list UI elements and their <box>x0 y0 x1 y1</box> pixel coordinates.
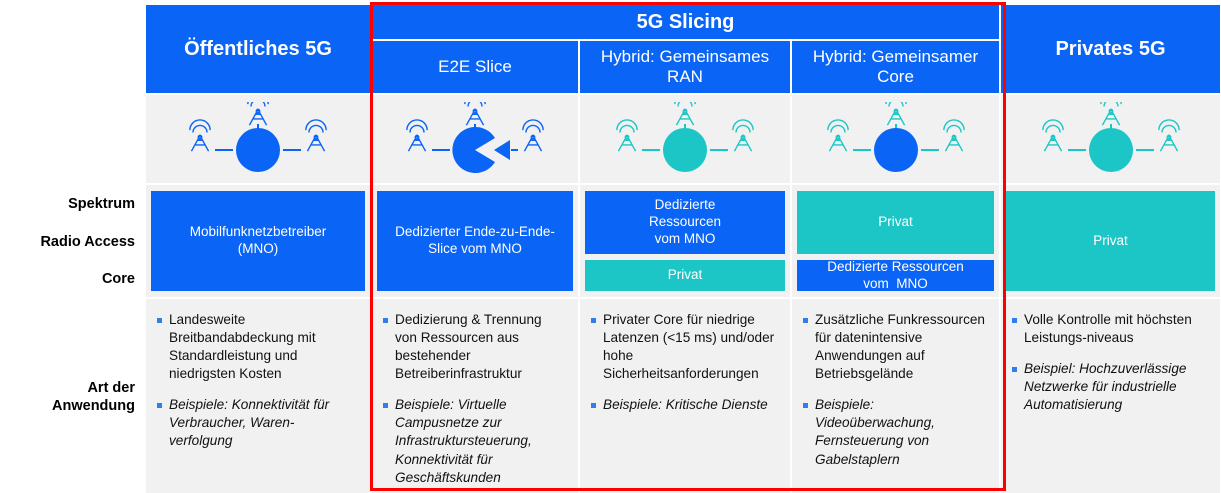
bullet-square-icon <box>157 403 162 408</box>
band-cell-shared-core: Privat Dedizierte Ressourcenvom MNO <box>791 184 1000 298</box>
usage-cell-e2e: Dedizierung & Trennung von Ressourcen au… <box>371 298 579 493</box>
network-node-blue-pie-slice-icon <box>386 102 564 176</box>
list-item: Beispiele: Konnektivität für Verbraucher… <box>157 396 357 450</box>
comparison-grid: Öffentliches 5G 5G Slicing Privates 5G E… <box>145 4 1221 493</box>
bullet-square-icon <box>591 403 596 408</box>
row-label-column: Spektrum Radio Access Core Art der Anwen… <box>0 4 145 493</box>
band-ran-private-core[interactable]: Privat <box>585 260 785 291</box>
usage-list-public: Landesweite Breitbandabdeckung mit Stand… <box>151 299 365 470</box>
usage-text: Beispiel: Hochzuverlässige Netzwerke für… <box>1024 360 1207 414</box>
bullet-square-icon <box>591 318 596 323</box>
rowlabel-spacer-icons <box>0 94 145 184</box>
network-node-teal-circle-icon <box>596 102 774 176</box>
rowlabel-art-der-anwendung: Art der Anwendung <box>0 298 145 493</box>
band-cell-public: Mobilfunknetzbetreiber(MNO) <box>145 184 371 298</box>
rowlabel-art-line2: Anwendung <box>52 398 135 416</box>
bullet-square-icon <box>1012 367 1017 372</box>
band-core-private[interactable]: Privat <box>797 191 994 254</box>
rowlabel-art-line1: Art der <box>87 380 135 398</box>
rowlabel-core: Core <box>0 260 145 298</box>
usage-list-shared-ran: Privater Core für niedrige Latenzen (<15… <box>585 299 785 433</box>
usage-list-shared-core: Zusätzliche Funkressourcen für dateninte… <box>797 299 994 488</box>
usage-text: Privater Core für niedrige Latenzen (<15… <box>603 311 777 383</box>
header-5g-slicing-group[interactable]: 5G Slicing <box>371 4 1000 40</box>
rowlabel-radio-access: Radio Access <box>0 224 145 260</box>
bullet-square-icon <box>1012 318 1017 323</box>
bullet-square-icon <box>803 318 808 323</box>
usage-text: Beispiele: Kritische Dienste <box>603 396 768 414</box>
usage-text: Zusätzliche Funkressourcen für dateninte… <box>815 311 986 383</box>
network-node-teal-circle-icon <box>1022 102 1200 176</box>
band-core-dedicated-resources[interactable]: Dedizierte Ressourcenvom MNO <box>797 260 994 291</box>
header-e2e-slice[interactable]: E2E Slice <box>371 40 579 94</box>
header-hybrid-shared-core[interactable]: Hybrid: Gemeinsamer Core <box>791 40 1000 94</box>
rowlabel-spektrum: Spektrum <box>0 184 145 224</box>
list-item: Landesweite Breitbandabdeckung mit Stand… <box>157 311 357 383</box>
bullet-square-icon <box>803 403 808 408</box>
bullet-square-icon <box>157 318 162 323</box>
header-hybrid-shared-ran[interactable]: Hybrid: Gemeinsames RAN <box>579 40 791 94</box>
slide-canvas: O2 Telefónica Spektrum Radio Access Core… <box>0 0 1221 493</box>
usage-text: Beispiele: Virtuelle Campusnetze zur Inf… <box>395 396 565 486</box>
header-private-5g[interactable]: Privates 5G <box>1000 4 1221 94</box>
usage-list-e2e: Dedizierung & Trennung von Ressourcen au… <box>377 299 573 493</box>
icon-cell-private <box>1000 94 1221 184</box>
band-public-mno[interactable]: Mobilfunknetzbetreiber(MNO) <box>151 191 365 291</box>
rowlabel-spacer-sub <box>0 40 145 94</box>
network-node-blue-circle-teal-towers-icon <box>807 102 985 176</box>
list-item: Dedizierung & Trennung von Ressourcen au… <box>383 311 565 383</box>
usage-cell-shared-ran: Privater Core für niedrige Latenzen (<15… <box>579 298 791 493</box>
list-item: Beispiele: Videoüberwachung, Fernsteueru… <box>803 396 986 468</box>
usage-cell-public: Landesweite Breitbandabdeckung mit Stand… <box>145 298 371 493</box>
bullet-square-icon <box>383 403 388 408</box>
usage-list-private: Volle Kontrolle mit höchsten Leistungs-n… <box>1006 299 1215 433</box>
band-cell-e2e: Dedizierter Ende-zu-Ende-Slice vom MNO <box>371 184 579 298</box>
list-item: Beispiele: Virtuelle Campusnetze zur Inf… <box>383 396 565 486</box>
usage-text: Volle Kontrolle mit höchsten Leistungs-n… <box>1024 311 1207 347</box>
usage-text: Landesweite Breitbandabdeckung mit Stand… <box>169 311 357 383</box>
icon-cell-e2e <box>371 94 579 184</box>
icon-cell-public <box>145 94 371 184</box>
icon-cell-shared-ran <box>579 94 791 184</box>
list-item: Zusätzliche Funkressourcen für dateninte… <box>803 311 986 383</box>
rowlabel-spacer-group <box>0 4 145 40</box>
band-private-all[interactable]: Privat <box>1006 191 1215 291</box>
list-item: Beispiele: Kritische Dienste <box>591 396 777 414</box>
bullet-square-icon <box>383 318 388 323</box>
band-e2e-dedicated[interactable]: Dedizierter Ende-zu-Ende-Slice vom MNO <box>377 191 573 291</box>
header-public-5g[interactable]: Öffentliches 5G <box>145 4 371 94</box>
list-item: Beispiel: Hochzuverlässige Netzwerke für… <box>1012 360 1207 414</box>
band-cell-shared-ran: DedizierteRessourcenvom MNO Privat <box>579 184 791 298</box>
usage-cell-private: Volle Kontrolle mit höchsten Leistungs-n… <box>1000 298 1221 493</box>
list-item: Privater Core für niedrige Latenzen (<15… <box>591 311 777 383</box>
usage-text: Dedizierung & Trennung von Ressourcen au… <box>395 311 565 383</box>
band-cell-private: Privat <box>1000 184 1221 298</box>
icon-cell-shared-core <box>791 94 1000 184</box>
usage-text: Beispiele: Konnektivität für Verbraucher… <box>169 396 357 450</box>
usage-cell-shared-core: Zusätzliche Funkressourcen für dateninte… <box>791 298 1000 493</box>
usage-text: Beispiele: Videoüberwachung, Fernsteueru… <box>815 396 986 468</box>
list-item: Volle Kontrolle mit höchsten Leistungs-n… <box>1012 311 1207 347</box>
network-node-blue-circle-icon <box>169 102 347 176</box>
band-ran-dedicated-resources[interactable]: DedizierteRessourcenvom MNO <box>585 191 785 254</box>
